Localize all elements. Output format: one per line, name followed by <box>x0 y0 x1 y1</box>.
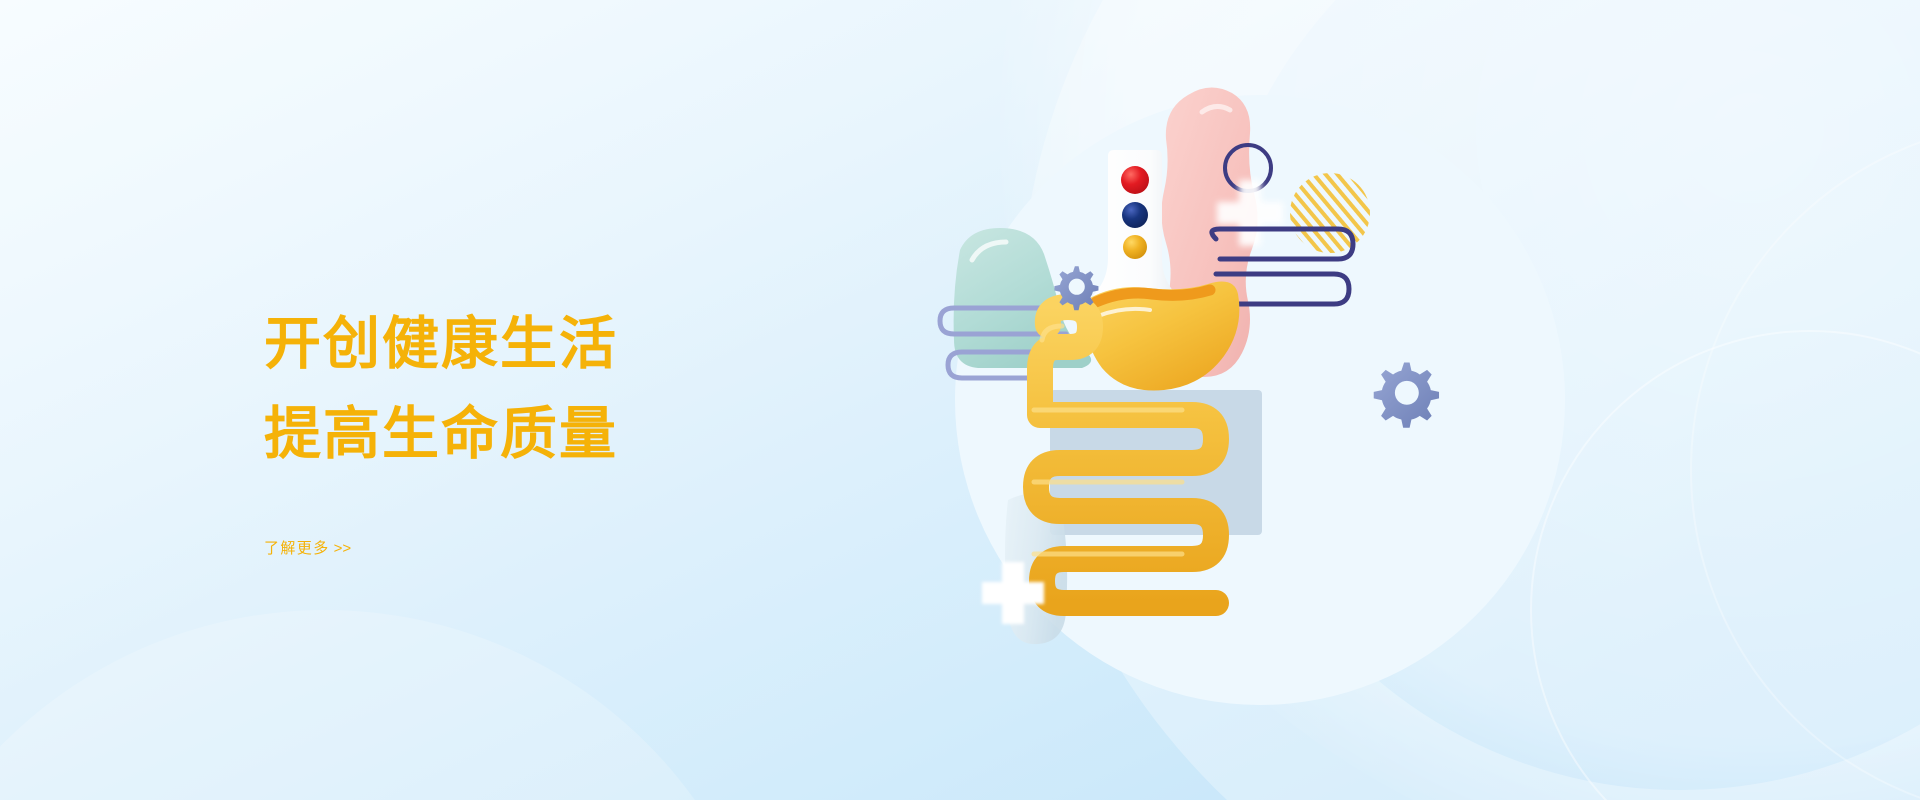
dot-red-icon <box>1121 166 1149 194</box>
dot-navy-icon <box>1122 202 1148 228</box>
gear-icon-small <box>1054 266 1098 310</box>
headline-line-2: 提高生命质量 <box>264 390 884 478</box>
chevron-double-right-icon: >> <box>334 540 352 557</box>
dot-yellow-icon <box>1123 235 1147 259</box>
digestive-system-illustration <box>930 70 1590 730</box>
learn-more-label: 了解更多 <box>264 540 330 557</box>
gear-icon-large <box>1374 362 1439 427</box>
hero-copy: 开创健康生活 提高生命质量 了解更多>> <box>264 300 884 558</box>
background-circle-bottom-left <box>0 610 780 800</box>
hero-banner: 开创健康生活 提高生命质量 了解更多>> <box>0 0 1920 800</box>
esophagus-dots <box>1121 166 1149 259</box>
learn-more-link[interactable]: 了解更多>> <box>264 537 351 558</box>
headline-line-1: 开创健康生活 <box>264 300 884 388</box>
